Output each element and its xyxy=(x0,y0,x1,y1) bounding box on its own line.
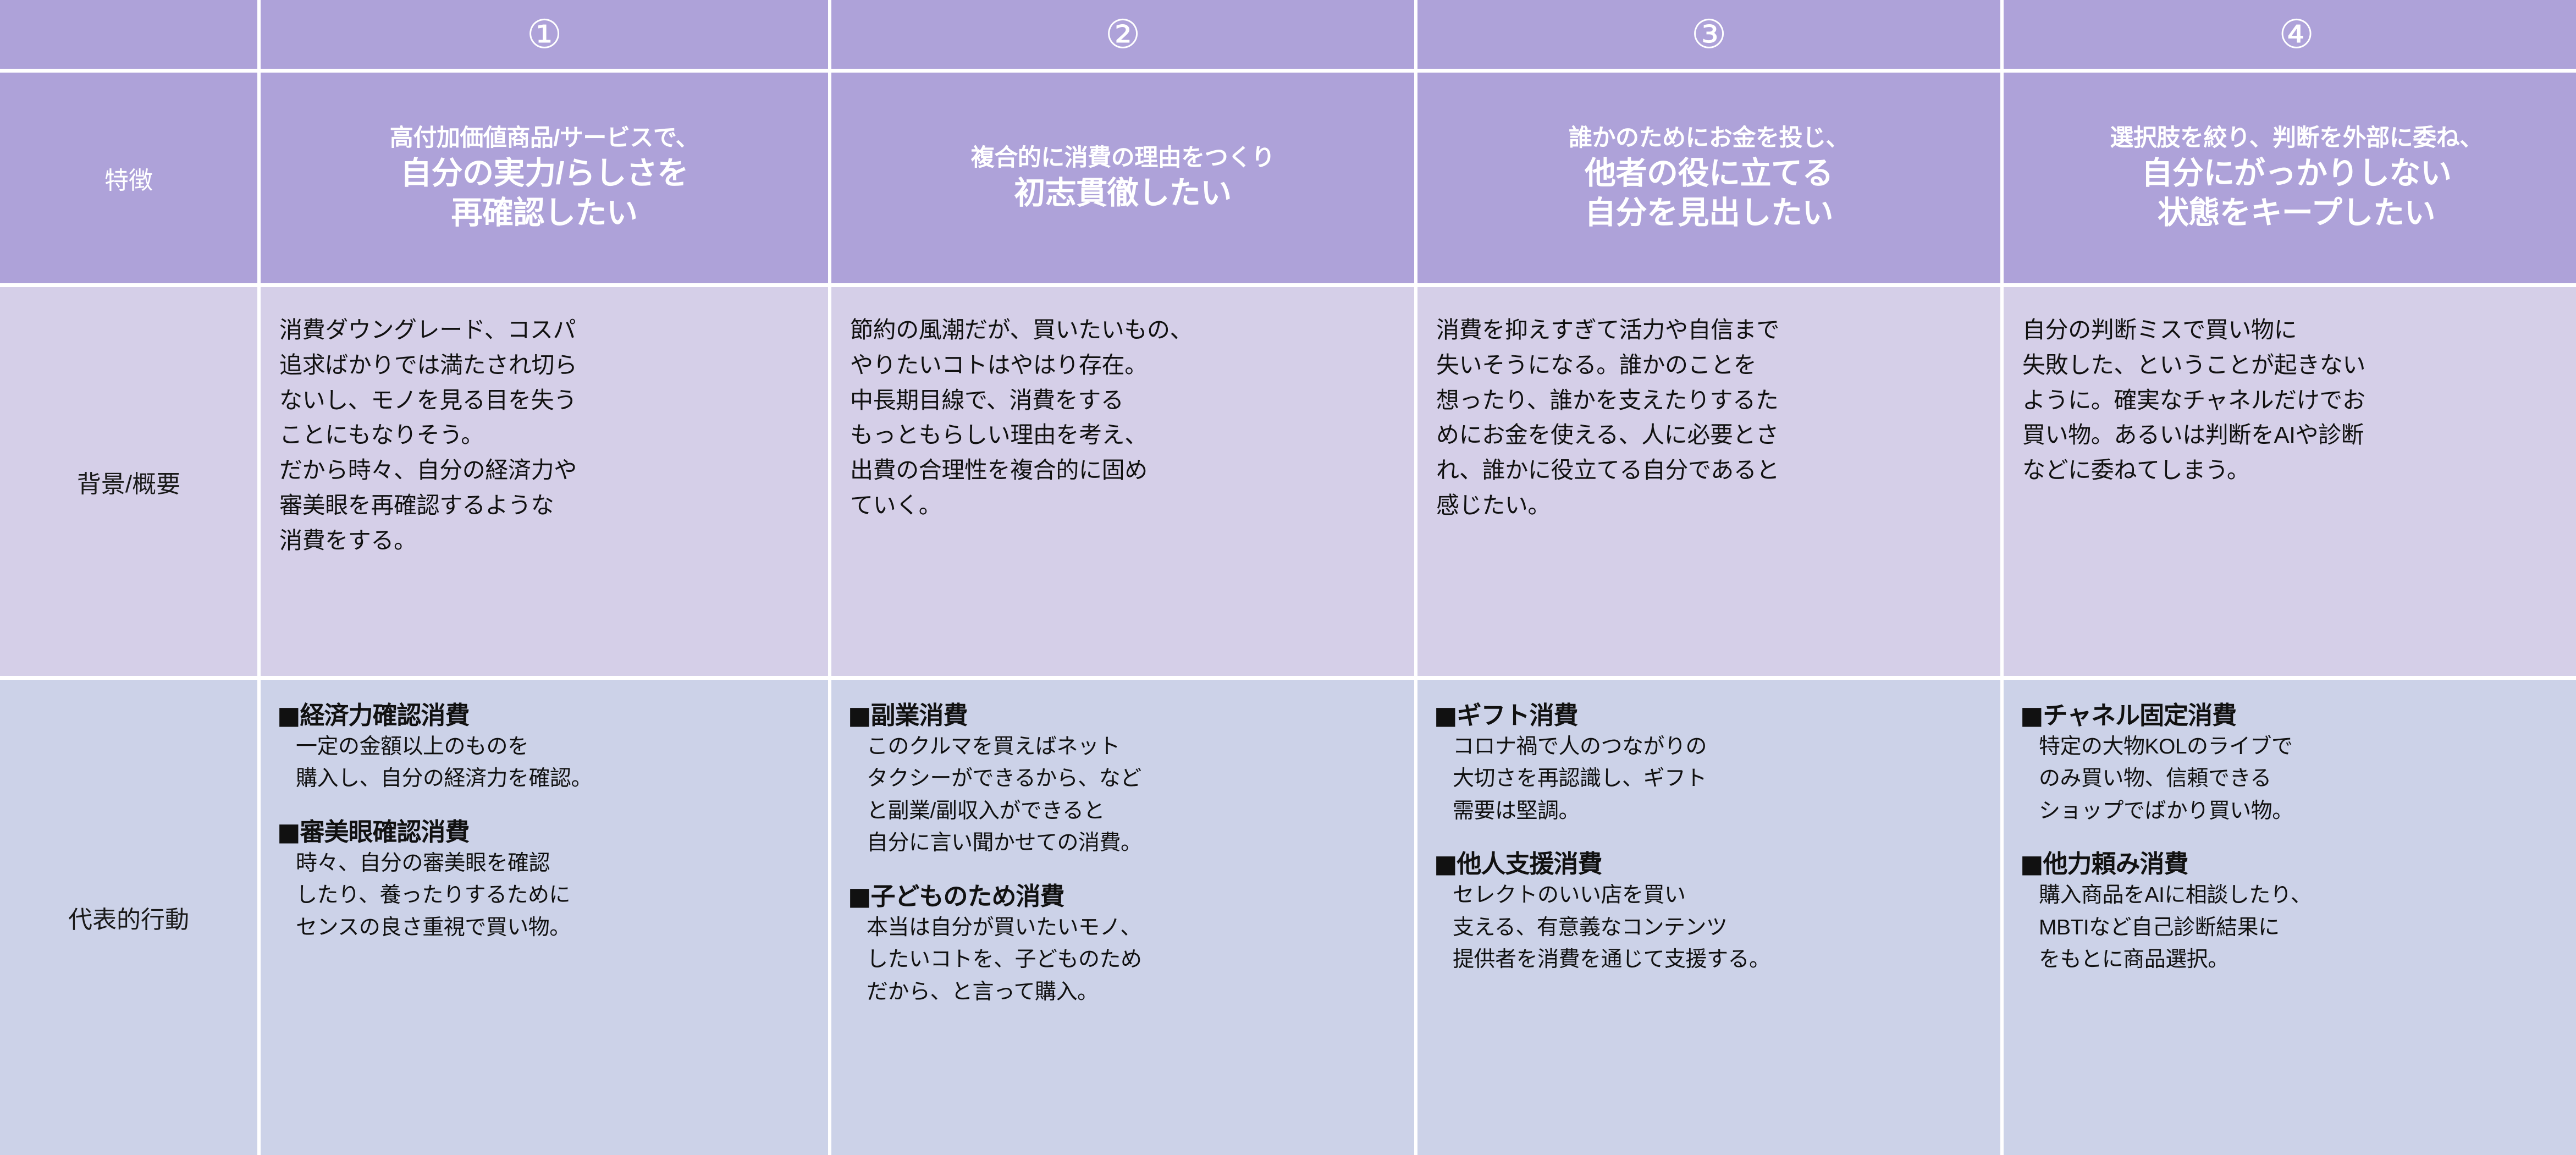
background-cell-1: 消費ダウングレード、コスパ 追求ばかりでは満たされ切ら ないし、モノを見る目を失… xyxy=(261,287,828,676)
feature-subtitle-1: 高付加価値商品/サービスで、 xyxy=(390,123,699,153)
background-cell-2: 節約の風潮だが、買いたいもの、 やりたいコトはやはり存在。 中長期目線で、消費を… xyxy=(831,287,1414,676)
feature-cell-4: 選択肢を絞り、判断を外部に委ね、 自分にがっかりしない 状態をキープしたい xyxy=(2004,73,2576,283)
row-label-background: 背景/概要 xyxy=(0,287,257,676)
action-body: コロナ禍で人のつながりの 大切さを再認識し、ギフト 需要は堅調。 xyxy=(1434,731,1986,828)
action-block: ■副業消費 このクルマを買えばネット タクシーができるから、など と副業/副収入… xyxy=(848,701,1400,860)
circled-number-4: ④ xyxy=(2279,15,2314,54)
action-title-text: 副業消費 xyxy=(871,701,968,729)
action-body: セレクトのいい店を買い 支える、有意義なコンテンツ 提供者を消費を通じて支援する… xyxy=(1434,879,1986,976)
action-body: このクルマを買えばネット タクシーができるから、など と副業/副収入ができると … xyxy=(848,731,1400,860)
action-title-text: 他力頼み消費 xyxy=(2043,850,2188,878)
column-number-cell-4: ④ xyxy=(2004,0,2576,69)
action-body: 特定の大物KOLのライブで のみ買い物、信頼できる ショップでばかり買い物。 xyxy=(2020,731,2575,828)
action-cell-1: ■経済力確認消費 一定の金額以上のものを 購入し、自分の経済力を確認。 ■審美眼… xyxy=(261,680,828,1155)
action-block: ■ギフト消費 コロナ禍で人のつながりの 大切さを再認識し、ギフト 需要は堅調。 xyxy=(1434,701,1986,827)
feature-subtitle-3: 誰かのためにお金を投じ、 xyxy=(1569,123,1849,153)
circled-number-3: ③ xyxy=(1691,15,1727,54)
action-block: ■経済力確認消費 一定の金額以上のものを 購入し、自分の経済力を確認。 xyxy=(277,701,814,795)
column-number-cell-2: ② xyxy=(831,0,1414,69)
row-label-action: 代表的行動 xyxy=(0,680,257,1155)
feature-title-1: 自分の実力/らしさを 再確認したい xyxy=(400,153,688,233)
bullet-square-icon: ■ xyxy=(1434,849,1457,878)
background-cell-4: 自分の判断ミスで買い物に 失敗した、ということが起きない ように。確実なチャネル… xyxy=(2004,287,2576,676)
bullet-square-icon: ■ xyxy=(1434,701,1457,730)
feature-subtitle-2: 複合的に消費の理由をつくり xyxy=(971,143,1275,173)
action-cell-4: ■チャネル固定消費 特定の大物KOLのライブで のみ買い物、信頼できる ショップ… xyxy=(2004,680,2576,1155)
row-label-feature: 特徴 xyxy=(0,73,257,283)
action-title: ■ギフト消費 xyxy=(1434,701,1986,731)
action-block: ■チャネル固定消費 特定の大物KOLのライブで のみ買い物、信頼できる ショップ… xyxy=(2020,701,2575,827)
feature-title-4: 自分にがっかりしない 状態をキープしたい xyxy=(2142,153,2452,233)
column-number-cell-1: ① xyxy=(261,0,828,69)
action-body: 一定の金額以上のものを 購入し、自分の経済力を確認。 xyxy=(277,731,814,795)
feature-cell-3: 誰かのためにお金を投じ、 他者の役に立てる 自分を見出したい xyxy=(1417,73,2000,283)
circled-number-1: ① xyxy=(527,15,562,54)
action-title-text: 子どものため消費 xyxy=(871,882,1064,910)
feature-subtitle-4: 選択肢を絞り、判断を外部に委ね、 xyxy=(2110,123,2483,153)
corner-cell xyxy=(0,0,257,69)
feature-title-3: 他者の役に立てる 自分を見出したい xyxy=(1585,153,1833,233)
bullet-square-icon: ■ xyxy=(2020,701,2043,730)
action-title: ■審美眼確認消費 xyxy=(277,817,814,848)
action-body: 本当は自分が買いたいモノ、 したいコトを、子どものため だから、と言って購入。 xyxy=(848,912,1400,1009)
action-body: 時々、自分の審美眼を確認 したり、養ったりするために センスの良さ重視で買い物。 xyxy=(277,848,814,944)
action-title: ■チャネル固定消費 xyxy=(2020,701,2575,731)
action-cell-2: ■副業消費 このクルマを買えばネット タクシーができるから、など と副業/副収入… xyxy=(831,680,1414,1155)
feature-cell-1: 高付加価値商品/サービスで、 自分の実力/らしさを 再確認したい xyxy=(261,73,828,283)
circled-number-2: ② xyxy=(1105,15,1141,54)
feature-cell-2: 複合的に消費の理由をつくり 初志貫徹したい xyxy=(831,73,1414,283)
action-title: ■副業消費 xyxy=(848,701,1400,731)
bullet-square-icon: ■ xyxy=(848,701,871,730)
bullet-square-icon: ■ xyxy=(277,817,300,846)
action-block: ■他力頼み消費 購入商品をAIに相談したり、 MBTIなど自己診断結果に をもと… xyxy=(2020,849,2575,976)
action-title-text: 審美眼確認消費 xyxy=(300,818,470,846)
action-body: 購入商品をAIに相談したり、 MBTIなど自己診断結果に をもとに商品選択。 xyxy=(2020,879,2575,976)
action-block: ■子どものため消費 本当は自分が買いたいモノ、 したいコトを、子どものため だか… xyxy=(848,882,1400,1008)
action-title: ■経済力確認消費 xyxy=(277,701,814,731)
bullet-square-icon: ■ xyxy=(848,882,871,911)
action-title-text: 他人支援消費 xyxy=(1457,850,1602,878)
action-title: ■他人支援消費 xyxy=(1434,849,1986,879)
action-title: ■子どものため消費 xyxy=(848,882,1400,912)
bullet-square-icon: ■ xyxy=(2020,849,2043,878)
action-title-text: 経済力確認消費 xyxy=(300,701,470,729)
action-cell-3: ■ギフト消費 コロナ禍で人のつながりの 大切さを再認識し、ギフト 需要は堅調。 … xyxy=(1417,680,2000,1155)
action-title: ■他力頼み消費 xyxy=(2020,849,2575,879)
persona-matrix-table: ① ② ③ ④ 特徴 高付加価値商品/サービスで、 自分の実力/らしさを 再確認… xyxy=(0,0,2576,1143)
action-title-text: チャネル固定消費 xyxy=(2043,701,2237,729)
background-cell-3: 消費を抑えすぎて活力や自信まで 失いそうになる。誰かのことを 想ったり、誰かを支… xyxy=(1417,287,2000,676)
feature-title-2: 初志貫徹したい xyxy=(1014,173,1232,213)
bullet-square-icon: ■ xyxy=(277,701,300,730)
action-title-text: ギフト消費 xyxy=(1457,701,1578,729)
column-number-cell-3: ③ xyxy=(1417,0,2000,69)
action-block: ■審美眼確認消費 時々、自分の審美眼を確認 したり、養ったりするために センスの… xyxy=(277,817,814,944)
action-block: ■他人支援消費 セレクトのいい店を買い 支える、有意義なコンテンツ 提供者を消費… xyxy=(1434,849,1986,976)
